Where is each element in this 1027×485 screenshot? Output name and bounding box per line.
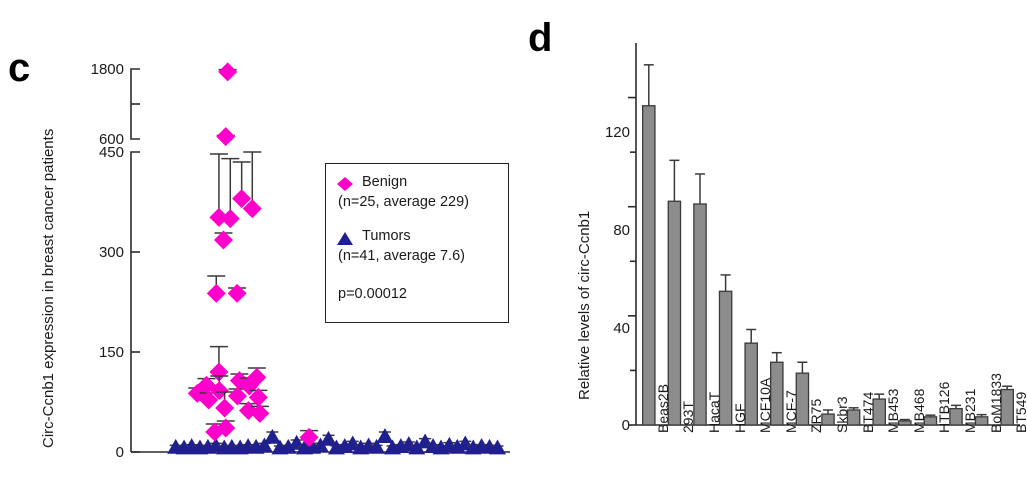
panel-d-x-label: ZR75 xyxy=(808,399,824,433)
panel-d-x-label: MCF10A xyxy=(757,378,773,433)
panel-d-x-label: Beas2B xyxy=(655,384,671,433)
panel-d-x-label: Skbr3 xyxy=(834,396,850,433)
panel-d-x-label: MB231 xyxy=(962,389,978,433)
panel-d-x-label: BT549 xyxy=(1013,392,1027,433)
figure-panels-c-d: c Circ-Ccnb1 expression in breast cancer… xyxy=(0,0,1027,485)
panel-d-x-label: BoM1833 xyxy=(988,373,1004,433)
panel-d-x-label: MB468 xyxy=(911,389,927,433)
panel-d-x-label: BT474 xyxy=(860,392,876,433)
bar xyxy=(694,204,706,425)
panel-d-x-label: MB453 xyxy=(885,389,901,433)
panel-d-x-label: HacaT xyxy=(706,392,722,433)
panel-d-x-label: MCF-7 xyxy=(783,390,799,433)
bar xyxy=(643,106,655,425)
panel-d-x-label: 293T xyxy=(680,401,696,433)
panel-d-x-label: HTB126 xyxy=(936,382,952,433)
panel-d-x-label: HGF xyxy=(732,403,748,433)
